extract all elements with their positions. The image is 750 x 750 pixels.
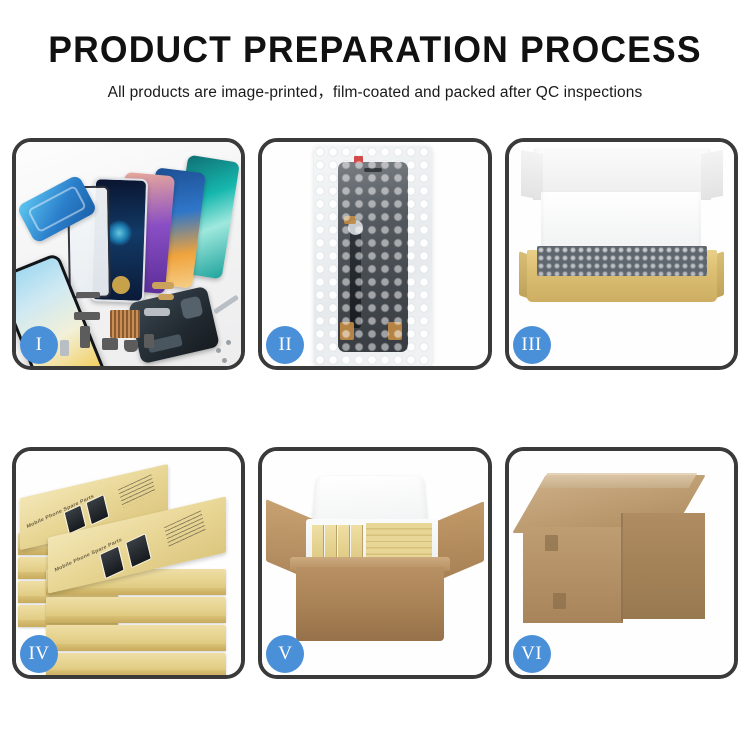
step-panel-2: II	[258, 138, 491, 370]
part-battery-connector	[144, 334, 154, 348]
stacked-box-r3	[46, 625, 226, 651]
bubble-wrap-pouch	[314, 146, 432, 366]
part-speaker-module	[112, 276, 130, 294]
part-screw-2	[226, 340, 231, 345]
lid-text-lines-1	[118, 474, 156, 508]
carton-front-face	[523, 527, 623, 623]
part-screw-1	[216, 348, 221, 353]
step-panel-1: I	[12, 138, 245, 370]
carton-vertical-seam	[621, 513, 623, 621]
part-screw-3	[222, 358, 227, 363]
page-subtitle: All products are image-printed，film-coat…	[0, 80, 750, 102]
lid-phone-image-4	[125, 533, 152, 568]
red-label-tab	[354, 156, 363, 163]
white-foam-sheet	[541, 192, 701, 254]
carton-handle-notch-bottom	[553, 593, 566, 609]
lid-text-lines-2	[164, 510, 206, 547]
connector-top	[344, 216, 356, 224]
carton-side-face	[623, 513, 705, 619]
step-panel-6: VI	[505, 447, 738, 679]
part-power-flex	[158, 294, 174, 300]
part-antenna-flex	[144, 308, 170, 316]
part-button-flex	[152, 282, 174, 289]
part-sim-tray	[60, 340, 69, 356]
stacked-box-r4	[46, 653, 226, 675]
part-taptic-engine	[102, 338, 118, 350]
step-panel-3: III	[505, 138, 738, 370]
steps-grid: I II	[12, 138, 738, 679]
page-title: PRODUCT PREPARATION PROCESS	[15, 30, 735, 71]
carton-body	[296, 567, 444, 641]
part-camera-lens	[124, 340, 138, 352]
stacked-box-r2	[46, 597, 226, 623]
step-badge-4: IV	[20, 635, 58, 673]
carton-handle-notch-top	[545, 535, 558, 551]
step-badge-6: VI	[513, 635, 551, 673]
product-preparation-infographic: PRODUCT PREPARATION PROCESS All products…	[0, 0, 750, 750]
part-flex-strip	[76, 292, 100, 298]
step-badge-3: III	[513, 326, 551, 364]
part-cable-a	[74, 312, 100, 320]
header: PRODUCT PREPARATION PROCESS All products…	[0, 0, 750, 102]
part-connector-grid	[110, 310, 140, 338]
bubble-wrapped-contents	[537, 246, 707, 276]
connector-bottom-right	[388, 322, 402, 340]
step-panel-5: V	[258, 447, 491, 679]
carton-sealing-tape	[538, 473, 697, 488]
screen-flex-cable	[350, 224, 361, 328]
part-cable-b	[80, 326, 90, 348]
connector-bottom-left	[340, 322, 354, 340]
step-badge-1: I	[20, 326, 58, 364]
step-panel-4: Mobile Phone Spare Parts Mobile Phone Sp…	[12, 447, 245, 679]
